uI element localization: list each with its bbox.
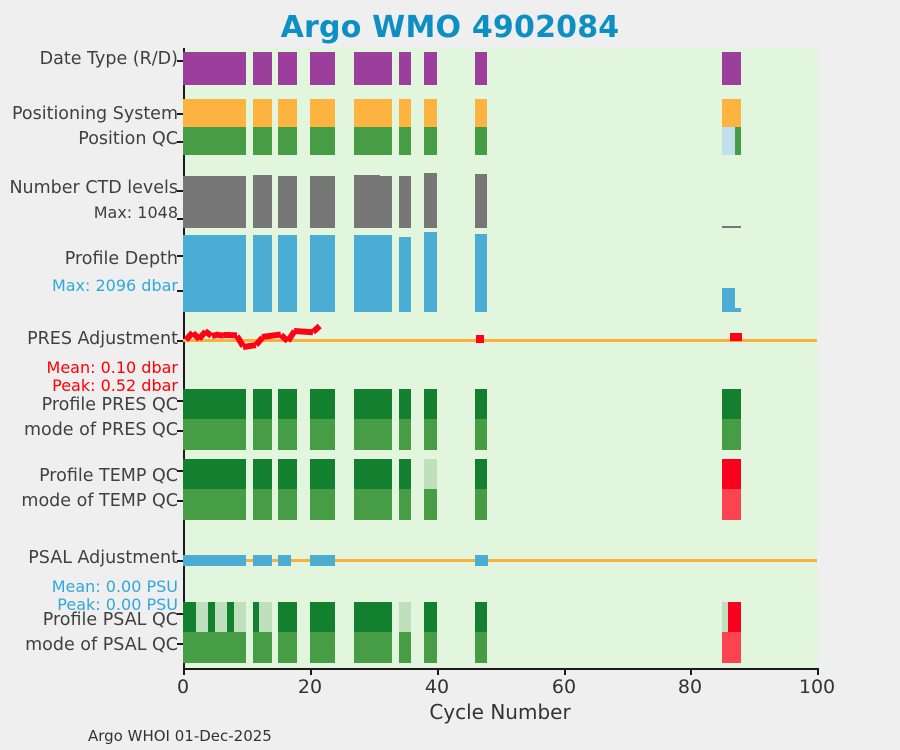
profile-psal-qc-bar (380, 602, 393, 632)
row-label-pres-peak: Peak: 0.52 dbar (52, 375, 178, 396)
mode-temp-qc-bar (354, 489, 367, 520)
ctd-levels-bar (399, 176, 412, 228)
row-label-positioning-system: Positioning System (12, 104, 178, 125)
profile-pres-qc-bar (722, 389, 741, 419)
mode-psal-qc-bar (354, 632, 367, 663)
x-tick-0 (183, 668, 185, 675)
row-label-mode-pres-qc: mode of PRES QC (24, 420, 178, 441)
x-tick-60 (564, 668, 566, 675)
position-qc-bar (424, 127, 437, 155)
psal-adjustment-segment (253, 555, 272, 566)
date-type-bar (278, 52, 297, 85)
position-qc-bar (380, 127, 393, 155)
y-tick (177, 500, 183, 502)
mode-psal-qc-bar (475, 632, 488, 663)
row-label-date-type: Date Type (R/D) (40, 49, 178, 70)
mode-pres-qc-bar (278, 419, 297, 450)
x-axis-label: Cycle Number (183, 700, 817, 724)
y-tick (177, 190, 183, 192)
mode-temp-qc-bar (424, 489, 437, 520)
mode-temp-qc-bar (475, 489, 488, 520)
ctd-levels-bar (722, 226, 741, 228)
profile-depth-bar (253, 235, 272, 312)
ctd-levels-bar (380, 176, 393, 228)
row-label-profile-temp-qc: Profile TEMP QC (39, 466, 178, 487)
profile-depth-bar (310, 235, 335, 312)
mode-pres-qc-bar (475, 419, 488, 450)
profile-psal-qc-bar (310, 602, 335, 632)
date-type-bar (722, 52, 741, 85)
profile-temp-qc-bar (278, 459, 297, 489)
profile-temp-qc-bar (310, 459, 335, 489)
profile-psal-qc-pale-bar (196, 602, 209, 632)
x-tick-20 (310, 668, 312, 675)
mode-pres-qc-bar (424, 419, 437, 450)
date-type-bar (183, 52, 246, 85)
mode-temp-qc-bad-bar (722, 489, 741, 520)
mode-pres-qc-bar (722, 419, 741, 450)
mode-psal-qc-bar (380, 632, 393, 663)
date-type-bar (380, 52, 393, 85)
y-tick (177, 340, 183, 342)
row-label-mode-temp-qc: mode of TEMP QC (21, 491, 178, 512)
profile-depth-bar (354, 235, 367, 312)
ctd-levels-bar (475, 174, 488, 228)
mode-pres-qc-bar (183, 419, 246, 450)
profile-depth-bar (399, 237, 412, 312)
date-type-bar (424, 52, 437, 85)
mode-pres-qc-bar (367, 419, 380, 450)
figure-canvas: Argo WMO 4902084 0 20 40 60 80 100 Cycle… (0, 0, 900, 750)
profile-depth-bar (183, 235, 246, 312)
date-type-bar (367, 52, 380, 85)
row-label-ctd-levels-max: Max: 1048 (94, 202, 178, 223)
profile-psal-qc-pale-bar (399, 602, 412, 632)
mode-pres-qc-bar (380, 419, 393, 450)
profile-psal-qc-bar (354, 602, 367, 632)
mode-psal-qc-bar (183, 632, 246, 663)
profile-depth-bar (424, 232, 437, 312)
positioning-system-bar (367, 99, 380, 127)
profile-psal-qc-pale-bar (259, 602, 272, 632)
x-tick-label-20: 20 (298, 676, 322, 698)
profile-psal-qc-pale-bar (234, 602, 247, 632)
ctd-levels-bar (253, 175, 272, 228)
profile-temp-qc-bar (253, 459, 272, 489)
profile-pres-qc-bar (310, 389, 335, 419)
positioning-system-bar (310, 99, 335, 127)
profile-temp-qc-bar (354, 459, 367, 489)
position-qc-interpolated-bar (722, 127, 735, 155)
position-qc-bar (354, 127, 367, 155)
mode-psal-qc-bar (399, 632, 412, 663)
positioning-system-bar (475, 99, 488, 127)
profile-depth-bar (475, 234, 488, 312)
x-axis-line (183, 668, 817, 670)
y-tick (177, 218, 183, 220)
y-tick (177, 113, 183, 115)
mode-pres-qc-bar (354, 419, 367, 450)
position-qc-bar (367, 127, 380, 155)
row-label-profile-pres-qc: Profile PRES QC (42, 395, 178, 416)
ctd-levels-bar (278, 176, 297, 228)
mode-temp-qc-bar (310, 489, 335, 520)
psal-adjustment-marker (478, 555, 488, 566)
psal-adjustment-segment (183, 555, 246, 566)
x-tick-label-100: 100 (799, 676, 835, 698)
x-tick-80 (690, 668, 692, 675)
mode-temp-qc-bar (367, 489, 380, 520)
mode-psal-qc-bar (367, 632, 380, 663)
mode-pres-qc-bar (399, 419, 412, 450)
y-tick (177, 613, 183, 615)
profile-temp-qc-bar (399, 459, 412, 489)
profile-pres-qc-bar (253, 389, 272, 419)
position-qc-bar (475, 127, 488, 155)
figure-footer: Argo WHOI 01-Dec-2025 (88, 727, 272, 745)
positioning-system-bar (278, 99, 297, 127)
mode-temp-qc-bar (183, 489, 246, 520)
x-tick-label-60: 60 (552, 676, 576, 698)
ctd-levels-bar (354, 175, 367, 228)
date-type-bar (253, 52, 272, 85)
mode-temp-qc-bar (380, 489, 393, 520)
mode-psal-qc-bar (278, 632, 297, 663)
profile-temp-qc-bar (367, 459, 380, 489)
ctd-levels-bar (310, 176, 335, 228)
positioning-system-bar (722, 99, 741, 127)
y-tick (177, 400, 183, 402)
profile-psal-qc-bar (278, 602, 297, 632)
y-tick (177, 560, 183, 562)
profile-temp-qc-pale-bar (424, 459, 437, 489)
profile-depth-bar (367, 235, 380, 312)
pres-adjustment-marker (476, 335, 484, 343)
y-tick (177, 643, 183, 645)
profile-temp-qc-bad-bar (722, 459, 741, 489)
profile-psal-qc-pale-bar (215, 602, 228, 632)
mode-temp-qc-bar (399, 489, 412, 520)
psal-adjustment-segment (310, 555, 335, 566)
positioning-system-bar (253, 99, 272, 127)
position-qc-bar (399, 127, 412, 155)
mode-psal-qc-bar (424, 632, 437, 663)
mode-psal-qc-bad-bar (722, 632, 741, 663)
positioning-system-bar (354, 99, 367, 127)
positioning-system-bar (399, 99, 412, 127)
ctd-levels-bar (367, 175, 380, 228)
position-qc-bar (310, 127, 335, 155)
profile-pres-qc-bar (424, 389, 437, 419)
y-tick (177, 430, 183, 432)
profile-pres-qc-bar (278, 389, 297, 419)
profile-psal-qc-bar (424, 602, 437, 632)
profile-temp-qc-bar (380, 459, 393, 489)
profile-depth-bar (380, 235, 393, 312)
positioning-system-bar (183, 99, 246, 127)
profile-psal-qc-bad-bar (728, 602, 741, 632)
x-tick-label-80: 80 (678, 676, 702, 698)
profile-depth-bar (728, 308, 741, 312)
profile-pres-qc-bar (399, 389, 412, 419)
position-qc-bar (183, 127, 246, 155)
profile-pres-qc-bar (183, 389, 246, 419)
mode-psal-qc-bar (253, 632, 272, 663)
position-qc-bar (278, 127, 297, 155)
pres-adjustment-marker (730, 333, 742, 341)
row-label-psal-adjustment: PSAL Adjustment (28, 548, 178, 569)
profile-temp-qc-bar (475, 459, 488, 489)
profile-psal-qc-bar (475, 602, 488, 632)
row-label-mode-psal-qc: mode of PSAL QC (25, 635, 178, 656)
profile-pres-qc-bar (367, 389, 380, 419)
mode-pres-qc-bar (310, 419, 335, 450)
profile-pres-qc-bar (475, 389, 488, 419)
profile-pres-qc-bar (354, 389, 367, 419)
profile-depth-bar (278, 235, 297, 312)
row-label-pres-adjustment: PRES Adjustment (27, 329, 178, 350)
x-tick-label-40: 40 (425, 676, 449, 698)
row-label-profile-depth: Profile Depth (65, 249, 178, 270)
row-label-profile-depth-max: Max: 2096 dbar (52, 275, 178, 296)
mode-pres-qc-bar (253, 419, 272, 450)
x-tick-100 (817, 668, 819, 675)
pres-adjustment-line-segment (224, 332, 230, 338)
row-label-profile-psal-qc: Profile PSAL QC (43, 610, 178, 631)
positioning-system-bar (380, 99, 393, 127)
pres-zero-line (183, 339, 817, 342)
mode-temp-qc-bar (278, 489, 297, 520)
profile-pres-qc-bar (380, 389, 393, 419)
profile-psal-qc-bar (367, 602, 380, 632)
y-tick (177, 141, 183, 143)
ctd-levels-bar (424, 173, 437, 228)
y-tick (177, 470, 183, 472)
date-type-bar (310, 52, 335, 85)
psal-adjustment-segment (278, 555, 291, 566)
mode-temp-qc-bar (253, 489, 272, 520)
date-type-bar (399, 52, 412, 85)
mode-psal-qc-bar (310, 632, 335, 663)
x-tick-label-0: 0 (177, 676, 189, 698)
positioning-system-bar (424, 99, 437, 127)
y-tick (177, 290, 183, 292)
row-label-position-qc: Position QC (78, 129, 178, 150)
position-qc-bar (253, 127, 272, 155)
page-title: Argo WMO 4902084 (0, 10, 900, 45)
date-type-bar (475, 52, 488, 85)
y-tick (177, 60, 183, 62)
profile-temp-qc-bar (183, 459, 246, 489)
ctd-levels-bar (183, 176, 246, 228)
y-tick (177, 255, 183, 257)
date-type-bar (354, 52, 367, 85)
row-label-ctd-levels: Number CTD levels (9, 178, 178, 199)
x-tick-40 (437, 668, 439, 675)
